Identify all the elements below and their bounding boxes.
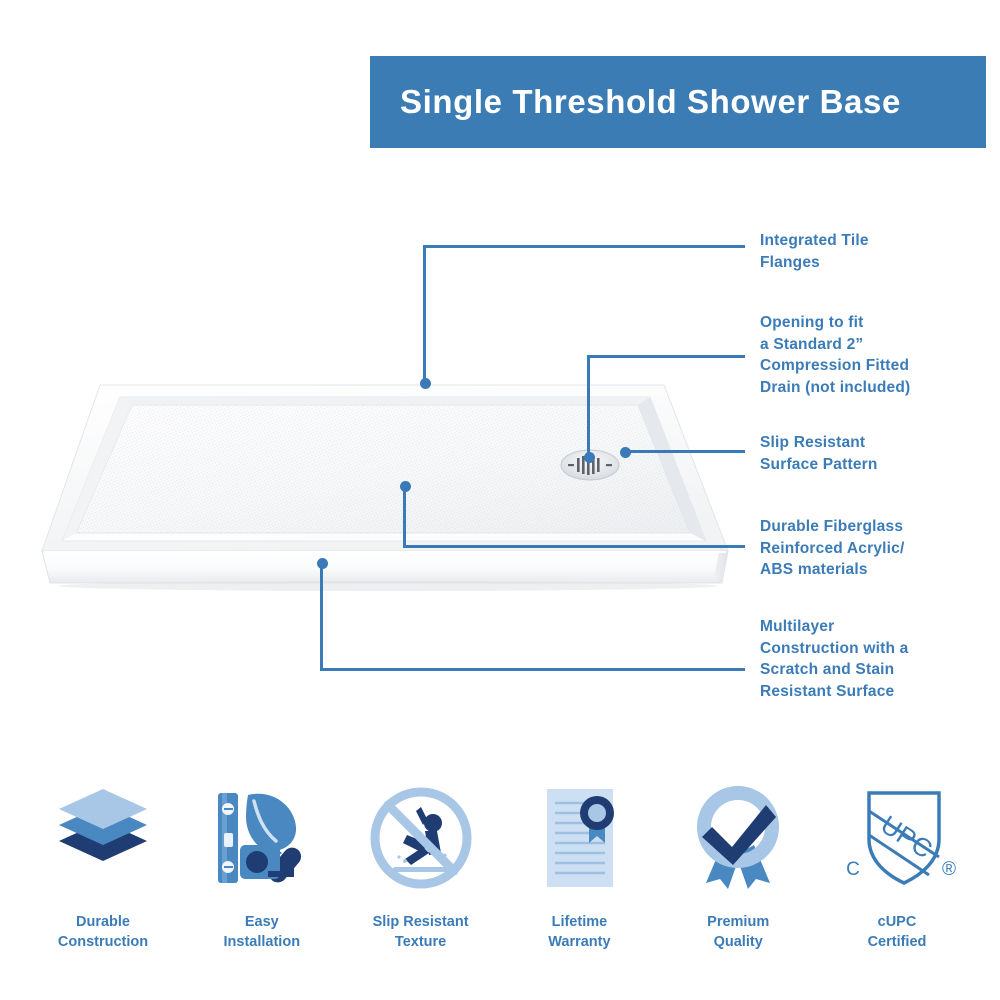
feature-label-slip-resistant: Slip Resistant Texture	[373, 912, 469, 952]
product-illustration	[28, 355, 734, 595]
upc-left-mark: C	[846, 859, 860, 880]
feature-slip-resistant: Slip Resistant Texture	[346, 775, 496, 952]
level-trowel-icon	[197, 775, 327, 900]
no-slip-icon	[356, 775, 486, 900]
callout-label-tile-flanges: Integrated Tile Flanges	[760, 230, 869, 273]
upc-shield-text: UPC	[876, 809, 938, 864]
callout-label-materials: Durable Fiberglass Reinforced Acrylic/ A…	[760, 516, 905, 581]
upc-registered-mark: ®	[942, 859, 956, 880]
upc-shield-icon: UPC C ®	[832, 775, 962, 900]
feature-label-lifetime-warranty: Lifetime Warranty	[548, 912, 610, 952]
feature-cupc-certified: UPC C ® cUPC Certified	[822, 775, 972, 952]
layers-icon	[38, 775, 168, 900]
shower-base-drawing	[28, 355, 734, 595]
diagram-canvas: Single Threshold Shower Base	[0, 0, 1000, 1000]
feature-label-cupc-certified: cUPC Certified	[868, 912, 927, 952]
feature-easy-installation: Easy Installation	[187, 775, 337, 952]
feature-label-premium-quality: Premium Quality	[707, 912, 769, 952]
feature-label-easy-installation: Easy Installation	[224, 912, 301, 952]
callout-label-drain-opening: Opening to fit a Standard 2” Compression…	[760, 312, 910, 398]
feature-premium-quality: Premium Quality	[663, 775, 813, 952]
rosette-check-icon	[673, 775, 803, 900]
certificate-icon	[514, 775, 644, 900]
page-title: Single Threshold Shower Base	[370, 83, 901, 121]
feature-row: Durable Construction	[0, 775, 1000, 975]
callout-label-slip-surface: Slip Resistant Surface Pattern	[760, 432, 878, 475]
callout-label-multilayer: Multilayer Construction with a Scratch a…	[760, 616, 908, 702]
feature-lifetime-warranty: Lifetime Warranty	[504, 775, 654, 952]
feature-label-durable-construction: Durable Construction	[58, 912, 148, 952]
feature-durable-construction: Durable Construction	[28, 775, 178, 952]
title-banner: Single Threshold Shower Base	[370, 56, 986, 148]
